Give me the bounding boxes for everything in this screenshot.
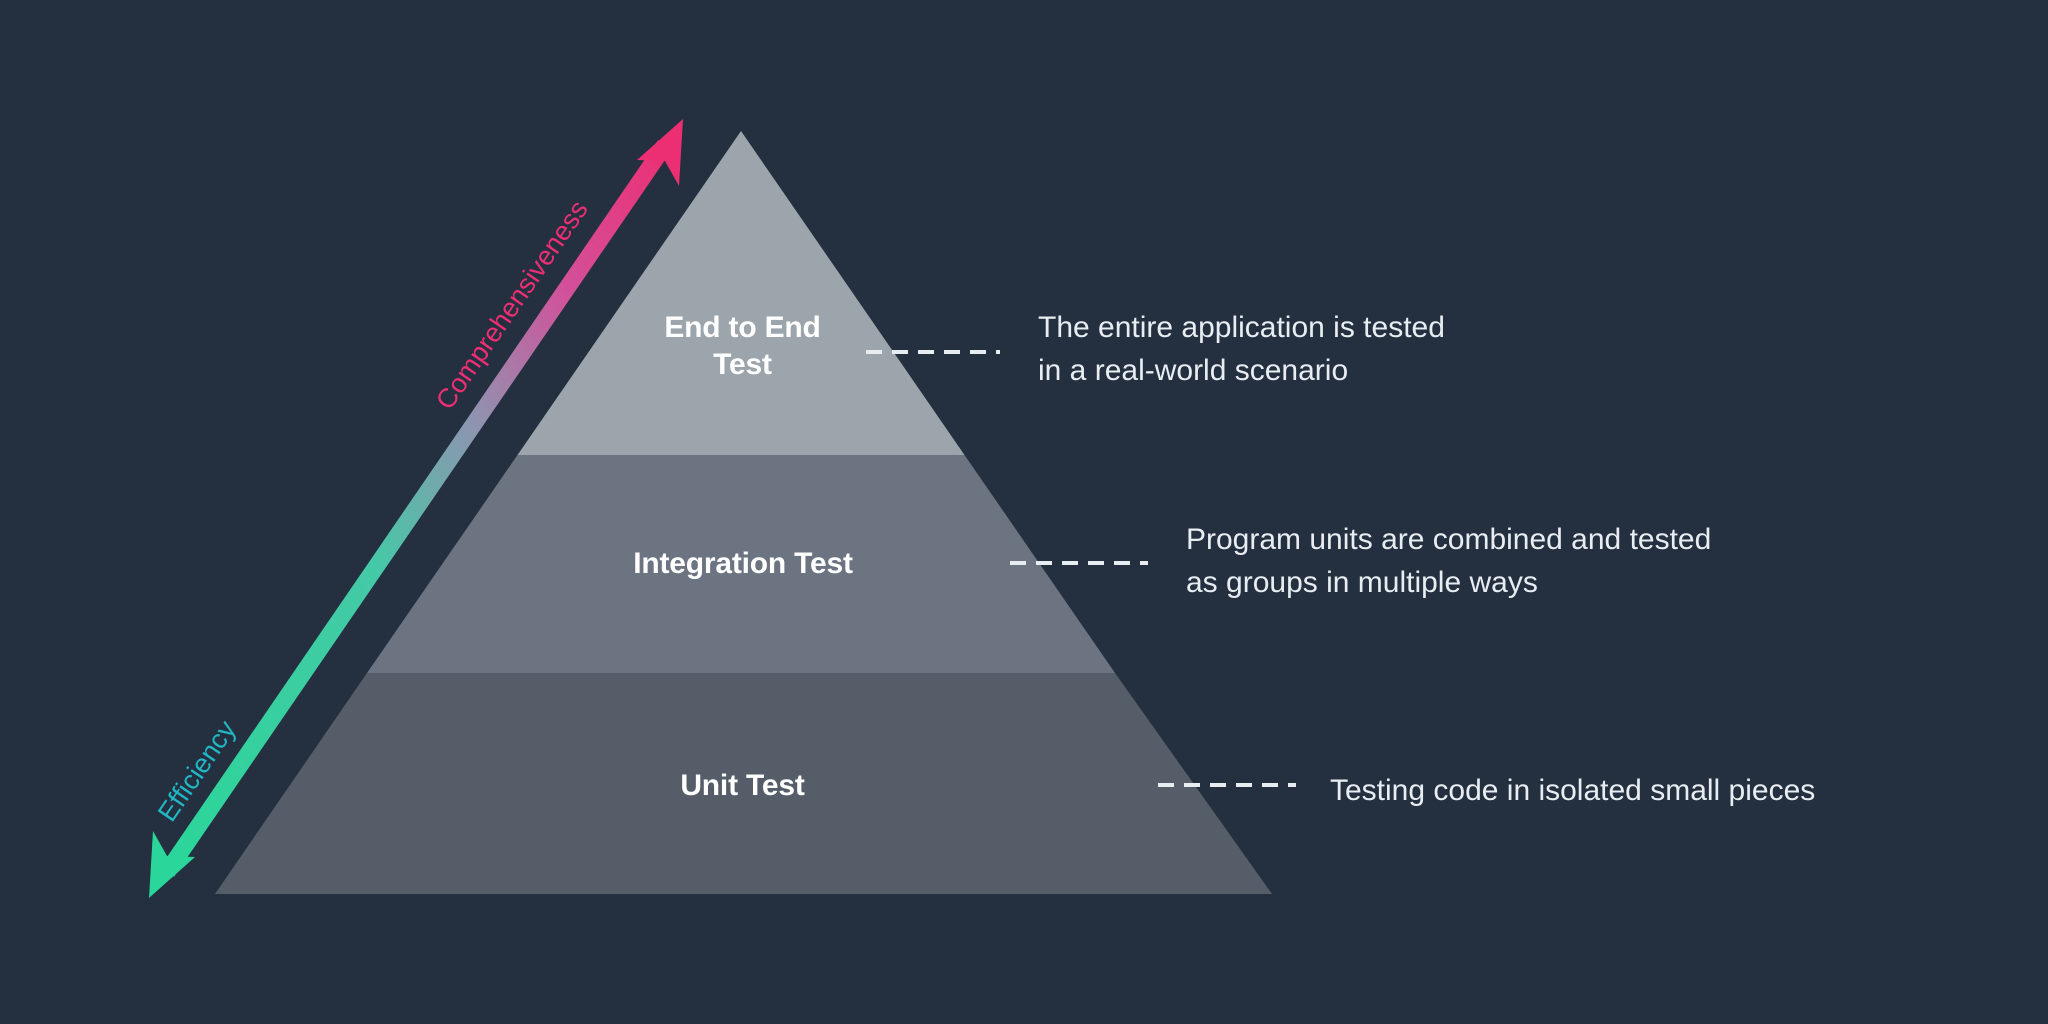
description-end-to-end: The entire application is tested in a re… [1038,307,1658,392]
pyramid-label-integration: Integration Test [568,546,918,583]
diagram-canvas: Comprehensiveness Efficiency End to End … [0,0,2048,1024]
testing-pyramid-graphic [0,0,2048,1024]
pyramid-label-unit: Unit Test [600,768,885,805]
pyramid-label-end-to-end: End to End Test [605,310,880,383]
description-unit: Testing code in isolated small pieces [1330,770,2030,813]
description-integration: Program units are combined and tested as… [1186,519,1886,604]
pyramid-layer-end-to-end[interactable] [518,131,965,455]
